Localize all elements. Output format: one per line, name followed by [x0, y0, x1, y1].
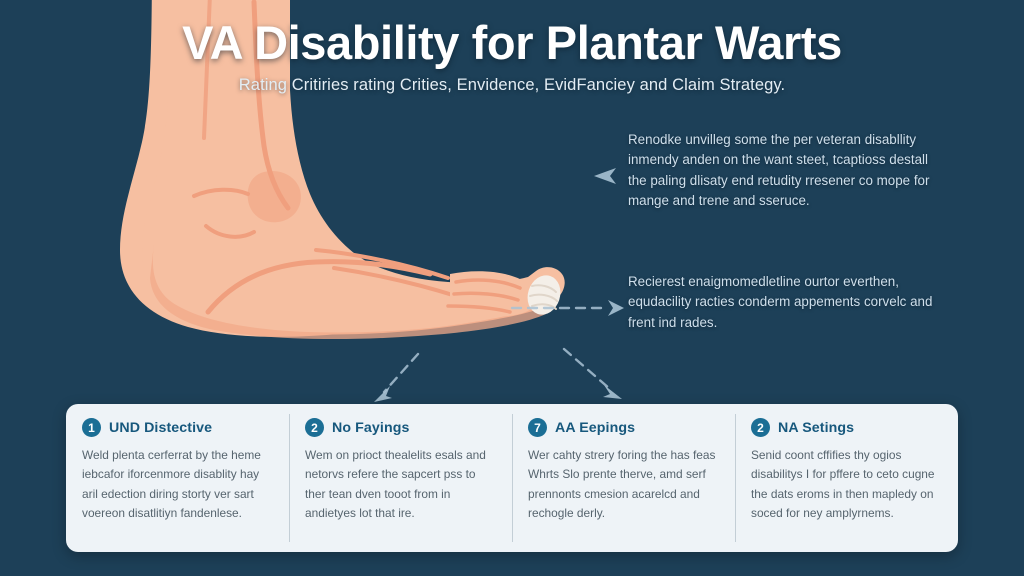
card-3-body: Wer cahty strery foring the has feas Whr…	[528, 446, 719, 523]
card-1-body: Weld plenta cerferrat by the heme iebcaf…	[82, 446, 273, 523]
card-3-title: AA Eepings	[555, 420, 635, 436]
summary-card-1[interactable]: 1 UND Distective Weld plenta cerferrat b…	[66, 404, 289, 552]
card-2-header: 2 No Fayings	[305, 418, 496, 437]
annotation-block-1: Renodke unvilleg some the per veteran di…	[628, 130, 940, 212]
card-4-body: Senid coont cffifies thy ogios disabilit…	[751, 446, 942, 523]
card-2-title: No Fayings	[332, 420, 409, 436]
card-3-number-badge: 7	[528, 418, 547, 437]
annotation-1-text: Renodke unvilleg some the per veteran di…	[628, 132, 929, 208]
annotation-2-text: Recierest enaigmomedletline ourtor evert…	[628, 274, 932, 330]
summary-card-2[interactable]: 2 No Fayings Wem on prioct thealelits es…	[289, 404, 512, 552]
infographic-canvas: VA Disability for Plantar Warts Rating C…	[0, 0, 1024, 576]
card-2-body: Wem on prioct thealelits esals and netor…	[305, 446, 496, 523]
card-4-header: 2 NA Setings	[751, 418, 942, 437]
card-1-header: 1 UND Distective	[82, 418, 273, 437]
card-1-number-badge: 1	[82, 418, 101, 437]
card-4-number-badge: 2	[751, 418, 770, 437]
card-4-title: NA Setings	[778, 420, 854, 436]
card-2-number-badge: 2	[305, 418, 324, 437]
summary-card-3[interactable]: 7 AA Eepings Wer cahty strery foring the…	[512, 404, 735, 552]
foot-side-view-with-plantar-wart-illustration	[58, 0, 638, 402]
summary-card-4[interactable]: 2 NA Setings Senid coont cffifies thy og…	[735, 404, 958, 552]
summary-cards-panel: 1 UND Distective Weld plenta cerferrat b…	[66, 404, 958, 552]
card-3-header: 7 AA Eepings	[528, 418, 719, 437]
card-1-title: UND Distective	[109, 420, 212, 436]
annotation-block-2: Recierest enaigmomedletline ourtor evert…	[628, 272, 940, 333]
